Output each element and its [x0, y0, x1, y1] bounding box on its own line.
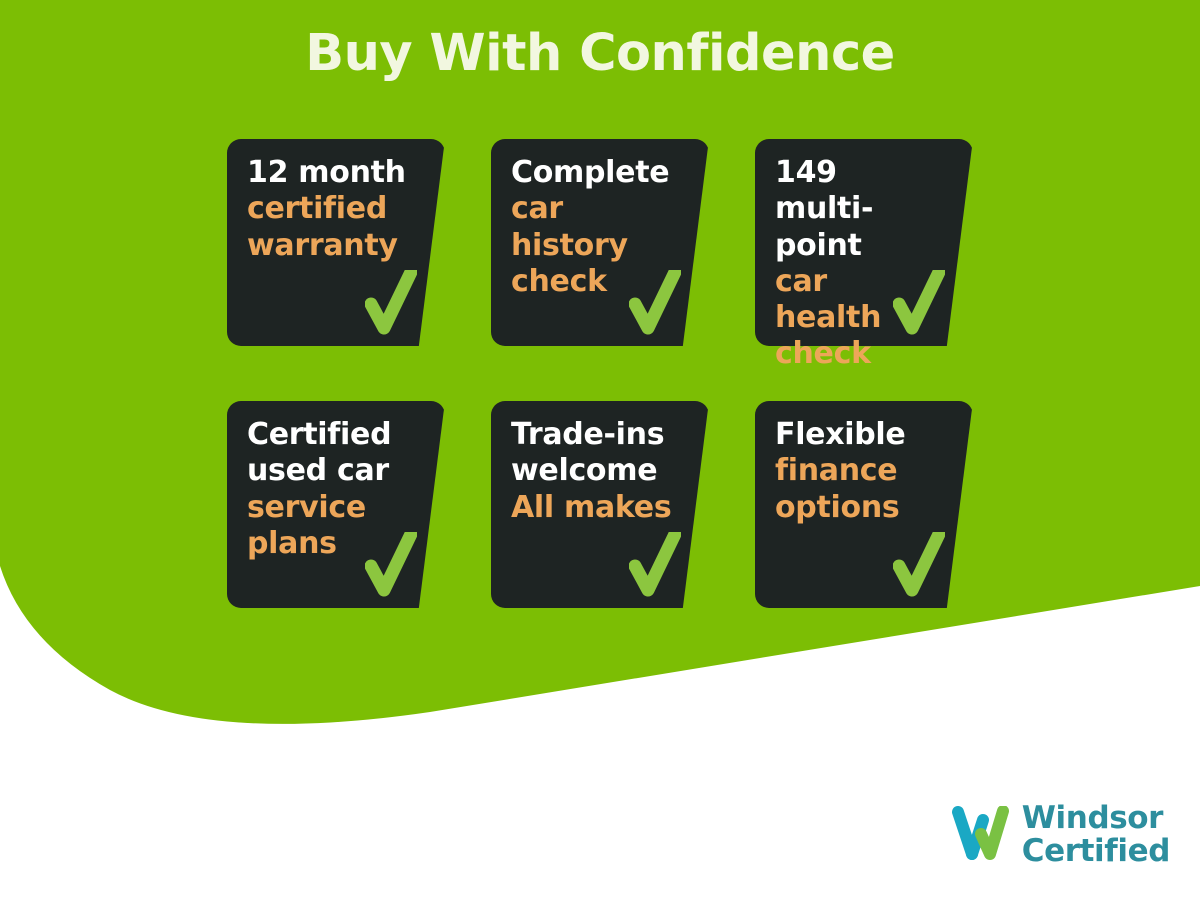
- poster-canvas: Buy With Confidence 12 month certified w…: [0, 0, 1200, 900]
- card-line: warranty: [247, 228, 411, 264]
- check-icon: [629, 532, 681, 600]
- card-line: check: [775, 336, 939, 372]
- feature-card-service-plans[interactable]: Certified used car service plans: [227, 401, 445, 608]
- check-icon: [629, 270, 681, 338]
- card-line: finance: [775, 453, 939, 489]
- card-text: Trade-ins welcome All makes: [511, 417, 675, 526]
- card-text: Flexible finance options: [775, 417, 939, 526]
- feature-card-grid: 12 month certified warranty Complete car…: [227, 139, 987, 608]
- card-line: service: [247, 490, 411, 526]
- card-line: Trade-ins: [511, 417, 675, 453]
- logo-wordmark: Windsor Certified: [1022, 802, 1170, 868]
- feature-card-certified-warranty[interactable]: 12 month certified warranty: [227, 139, 445, 346]
- feature-card-finance-options[interactable]: Flexible finance options: [755, 401, 973, 608]
- page-title: Buy With Confidence: [0, 24, 1200, 83]
- card-line: 12 month: [247, 155, 411, 191]
- card-line: Complete: [511, 155, 675, 191]
- card-line: Flexible: [775, 417, 939, 453]
- check-icon: [893, 532, 945, 600]
- card-line: certified: [247, 191, 411, 227]
- brand-logo[interactable]: Windsor Certified: [950, 802, 1170, 868]
- card-text: 149 multi-point car health check: [775, 155, 939, 373]
- card-line: Certified: [247, 417, 411, 453]
- card-line: multi-point: [775, 191, 939, 264]
- feature-card-car-history-check[interactable]: Complete car history check: [491, 139, 709, 346]
- card-line: car history: [511, 191, 675, 264]
- card-line: options: [775, 490, 939, 526]
- logo-line-certified: Certified: [1022, 835, 1170, 868]
- card-line: used car: [247, 453, 411, 489]
- feature-card-row-bottom: Certified used car service plans Trade-i…: [227, 401, 987, 608]
- feature-card-row-top: 12 month certified warranty Complete car…: [227, 139, 987, 346]
- card-text: 12 month certified warranty: [247, 155, 411, 264]
- card-line: All makes: [511, 490, 675, 526]
- feature-card-trade-ins[interactable]: Trade-ins welcome All makes: [491, 401, 709, 608]
- check-icon: [893, 270, 945, 338]
- check-icon: [365, 270, 417, 338]
- card-line: welcome: [511, 453, 675, 489]
- windsor-w-icon: [950, 806, 1012, 864]
- feature-card-car-health-check[interactable]: 149 multi-point car health check: [755, 139, 973, 346]
- logo-line-windsor: Windsor: [1022, 802, 1170, 835]
- card-line: 149: [775, 155, 939, 191]
- check-icon: [365, 532, 417, 600]
